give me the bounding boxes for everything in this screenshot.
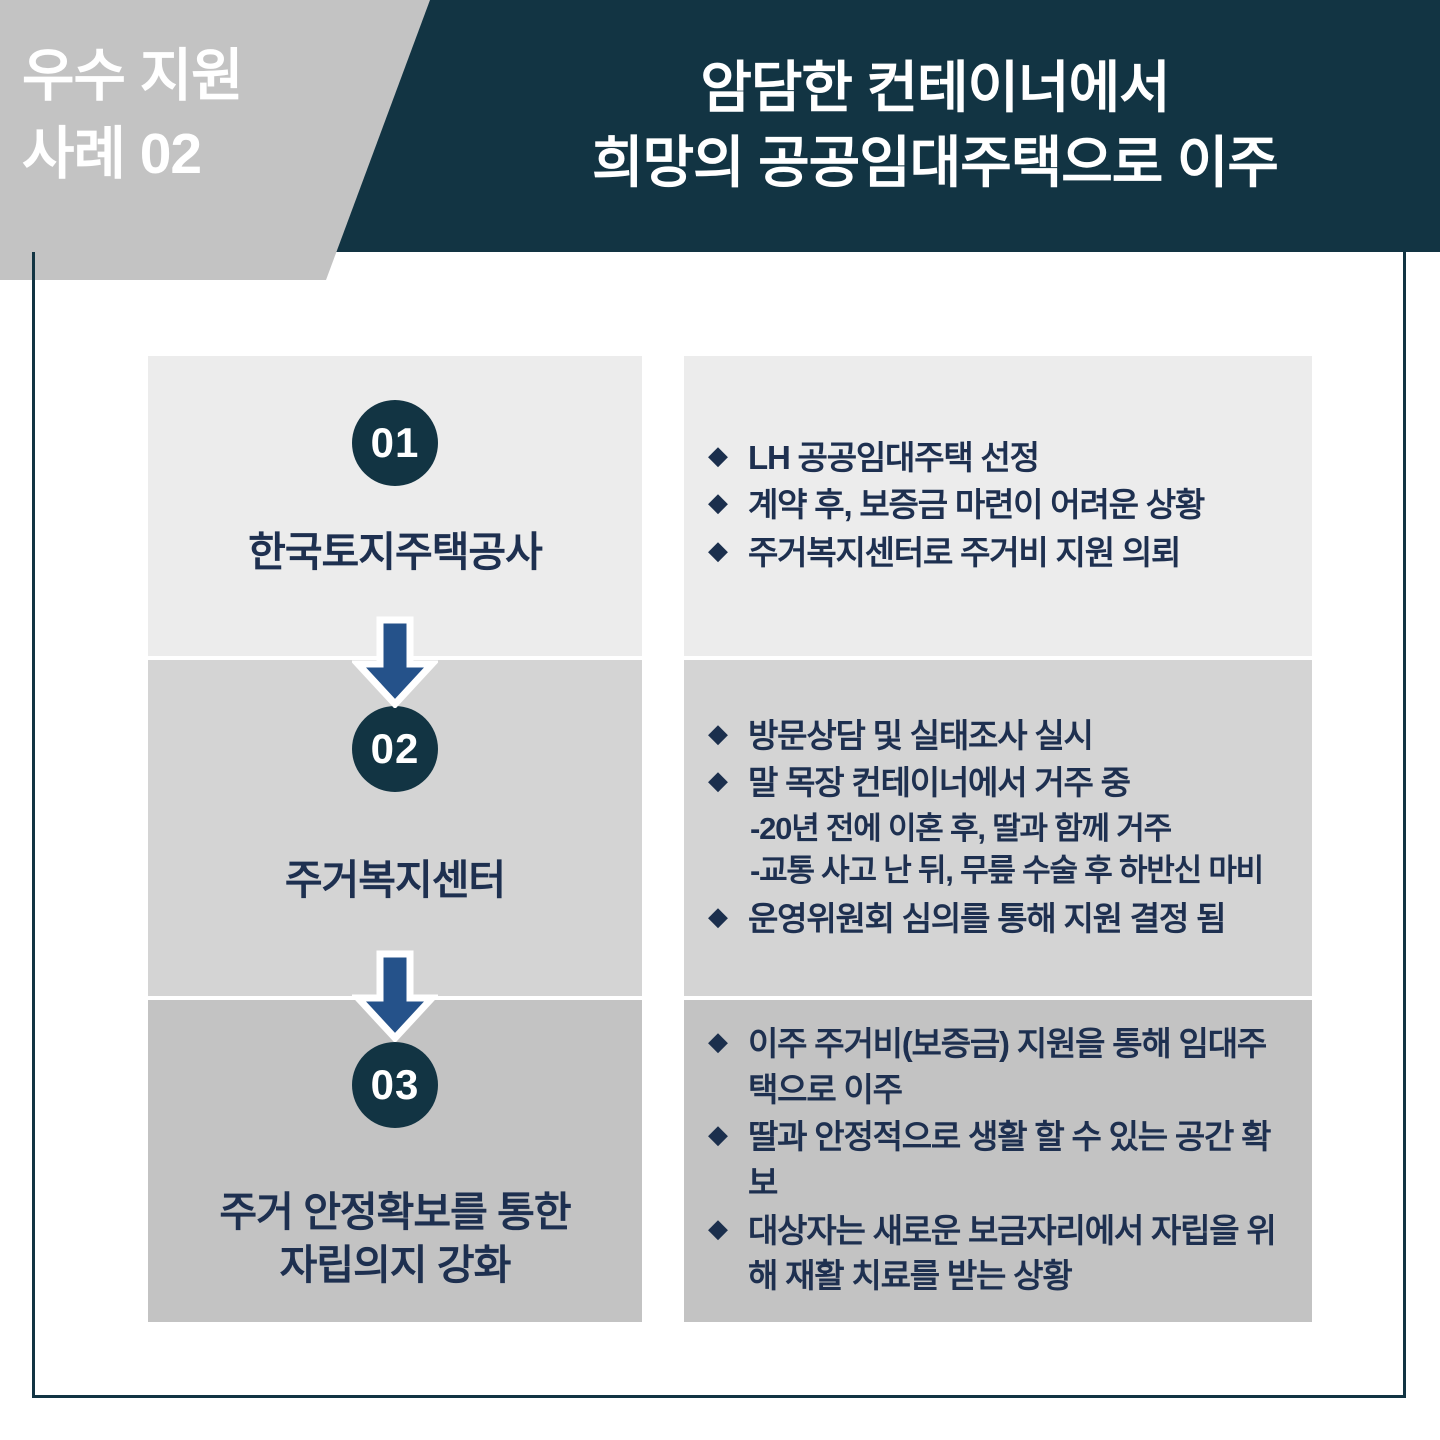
step-03-header: 03 주거 안정확보를 통한 자립의지 강화 <box>148 1000 642 1322</box>
step-01-details: ◆ LH 공공임대주택 선정 ◆ 계약 후, 보증금 마련이 어려운 상황 ◆ … <box>684 356 1312 656</box>
list-item: ◆ 계약 후, 보증금 마련이 어려운 상황 <box>708 482 1292 528</box>
list-item-text: 이주 주거비(보증금) 지원을 통해 임대주택으로 이주 <box>748 1021 1292 1112</box>
list-item-text: 딸과 안정적으로 생활 할 수 있는 공간 확보 <box>748 1114 1292 1205</box>
step-02-header: 02 주거복지센터 <box>148 660 642 996</box>
list-item: ◆ 대상자는 새로운 보금자리에서 자립을 위해 재활 치료를 받는 상황 <box>708 1208 1292 1299</box>
step-row-03: 03 주거 안정확보를 통한 자립의지 강화 ◆ 이주 주거비(보증금) 지원을… <box>148 1000 1312 1322</box>
list-sub-item: -20년 전에 이혼 후, 딸과 함께 거주 <box>708 808 1292 850</box>
step-03-number-badge: 03 <box>352 1042 438 1128</box>
diamond-bullet-icon: ◆ <box>708 896 748 936</box>
page-title-line-1: 암담한 컨테이너에서 <box>700 52 1169 125</box>
list-item: ◆ 방문상담 및 실태조사 실시 <box>708 713 1292 759</box>
step-02-label: 주거복지센터 <box>285 854 505 907</box>
diamond-bullet-icon: ◆ <box>708 1021 748 1061</box>
list-item-text: LH 공공임대주택 선정 <box>748 435 1292 481</box>
diamond-bullet-icon: ◆ <box>708 1114 748 1154</box>
list-item-text: 계약 후, 보증금 마련이 어려운 상황 <box>748 482 1292 528</box>
step-03-label: 주거 안정확보를 통한 자립의지 강화 <box>219 1186 570 1293</box>
list-item: ◆ 이주 주거비(보증금) 지원을 통해 임대주택으로 이주 <box>708 1021 1292 1112</box>
case-badge-line-1: 우수 지원 <box>22 38 372 116</box>
list-item: ◆ 말 목장 컨테이너에서 거주 중 <box>708 760 1292 806</box>
case-badge-text: 우수 지원 사례 02 <box>22 38 372 193</box>
diamond-bullet-icon: ◆ <box>708 435 748 475</box>
step-03-label-line-1: 주거 안정확보를 통한 <box>219 1186 570 1239</box>
diamond-bullet-icon: ◆ <box>708 482 748 522</box>
step-02-bullet-list: ◆ 방문상담 및 실태조사 실시 ◆ 말 목장 컨테이너에서 거주 중 -20년… <box>708 713 1292 944</box>
list-item-text: 운영위원회 심의를 통해 지원 결정 됨 <box>748 896 1292 942</box>
diamond-bullet-icon: ◆ <box>708 1208 748 1248</box>
step-row-02: 02 주거복지센터 ◆ 방문상담 및 실태조사 실시 ◆ 말 목장 컨테이너에서… <box>148 660 1312 996</box>
list-item: ◆ 운영위원회 심의를 통해 지원 결정 됨 <box>708 896 1292 942</box>
step-03-bullet-list: ◆ 이주 주거비(보증금) 지원을 통해 임대주택으로 이주 ◆ 딸과 안정적으… <box>708 1021 1292 1300</box>
list-item: ◆ LH 공공임대주택 선정 <box>708 435 1292 481</box>
step-02-details: ◆ 방문상담 및 실태조사 실시 ◆ 말 목장 컨테이너에서 거주 중 -20년… <box>684 660 1312 996</box>
process-flow: 01 한국토지주택공사 ◆ LH 공공임대주택 선정 ◆ 계약 후, 보증금 마… <box>148 356 1312 1322</box>
list-item-text: 말 목장 컨테이너에서 거주 중 <box>748 760 1292 806</box>
step-01-number-badge: 01 <box>352 400 438 486</box>
step-01-bullet-list: ◆ LH 공공임대주택 선정 ◆ 계약 후, 보증금 마련이 어려운 상황 ◆ … <box>708 435 1292 578</box>
step-row-01: 01 한국토지주택공사 ◆ LH 공공임대주택 선정 ◆ 계약 후, 보증금 마… <box>148 356 1312 656</box>
list-sub-item: -교통 사고 난 뒤, 무릎 수술 후 하반신 마비 <box>708 850 1292 892</box>
list-item-text: 방문상담 및 실태조사 실시 <box>748 713 1292 759</box>
step-03-label-line-2: 자립의지 강화 <box>219 1239 570 1292</box>
step-01-label: 한국토지주택공사 <box>248 526 542 579</box>
down-arrow-icon <box>352 950 438 1042</box>
list-item-text: 대상자는 새로운 보금자리에서 자립을 위해 재활 치료를 받는 상황 <box>748 1208 1292 1299</box>
step-03-details: ◆ 이주 주거비(보증금) 지원을 통해 임대주택으로 이주 ◆ 딸과 안정적으… <box>684 1000 1312 1322</box>
case-badge-line-2: 사례 02 <box>22 116 372 194</box>
page-title: 암담한 컨테이너에서 희망의 공공임대주택으로 이주 <box>430 0 1440 252</box>
down-arrow-icon <box>352 616 438 708</box>
list-item: ◆ 주거복지센터로 주거비 지원 의뢰 <box>708 530 1292 576</box>
diamond-bullet-icon: ◆ <box>708 530 748 570</box>
diamond-bullet-icon: ◆ <box>708 760 748 800</box>
step-02-number-badge: 02 <box>352 706 438 792</box>
list-item-text: 주거복지센터로 주거비 지원 의뢰 <box>748 530 1292 576</box>
list-item: ◆ 딸과 안정적으로 생활 할 수 있는 공간 확보 <box>708 1114 1292 1205</box>
step-01-header: 01 한국토지주택공사 <box>148 356 642 656</box>
page-title-line-2: 희망의 공공임대주택으로 이주 <box>592 127 1278 200</box>
diamond-bullet-icon: ◆ <box>708 713 748 753</box>
